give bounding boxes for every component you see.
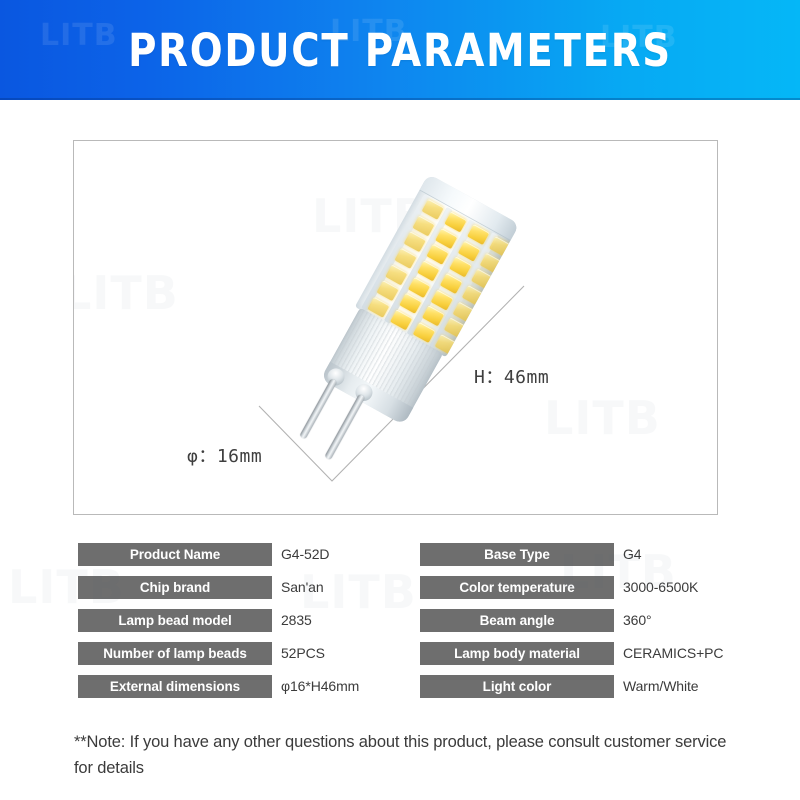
- table-row: External dimensions φ16*H46mm: [78, 675, 418, 708]
- panel-watermark-left: LITB: [73, 266, 179, 320]
- spec-value: Warm/White: [623, 675, 698, 698]
- led-chip: [471, 269, 494, 290]
- table-row: Beam angle 360°: [420, 609, 760, 642]
- header-banner: LITB LITB LITB PRODUCT PARAMETERS: [0, 0, 800, 100]
- led-chip: [431, 289, 454, 310]
- led-chip: [435, 228, 458, 249]
- spec-label: Beam angle: [420, 609, 614, 632]
- spec-value: φ16*H46mm: [281, 675, 359, 698]
- led-chip: [458, 240, 481, 261]
- led-chip: [480, 253, 503, 274]
- led-chip: [376, 280, 399, 301]
- table-row: Lamp bead model 2835: [78, 609, 418, 642]
- g4-led-bulb-photo: [269, 156, 569, 456]
- led-chip: [453, 301, 476, 322]
- spec-value: CERAMICS+PC: [623, 642, 723, 665]
- spec-label: Base Type: [420, 543, 614, 566]
- led-chip: [462, 285, 485, 306]
- spec-value: San'an: [281, 576, 324, 599]
- spec-column-right: Base Type G4 Color temperature 3000-6500…: [420, 543, 760, 708]
- spec-value: G4: [623, 543, 641, 566]
- led-chip: [449, 257, 472, 278]
- spec-label: Light color: [420, 675, 614, 698]
- led-chip: [426, 244, 449, 265]
- note-text: **Note: If you have any other questions …: [74, 729, 734, 781]
- spec-value: 52PCS: [281, 642, 325, 665]
- specifications-table: Product Name G4-52D Chip brand San'an La…: [0, 543, 800, 713]
- page-title: PRODUCT PARAMETERS: [56, 0, 744, 100]
- led-chip: [408, 277, 431, 298]
- spec-label: Lamp body material: [420, 642, 614, 665]
- spec-column-left: Product Name G4-52D Chip brand San'an La…: [78, 543, 418, 708]
- led-chip: [440, 273, 463, 294]
- dimension-label-height: H：46mm: [474, 363, 549, 389]
- bulb-assembly: [297, 168, 532, 450]
- table-row: Product Name G4-52D: [78, 543, 418, 576]
- spec-value: 2835: [281, 609, 312, 632]
- led-chip: [403, 232, 426, 253]
- product-image-panel: LITB LITB LITB: [73, 140, 718, 515]
- led-chip: [444, 318, 467, 339]
- led-chip: [399, 293, 422, 314]
- spec-value: G4-52D: [281, 543, 329, 566]
- table-row: Color temperature 3000-6500K: [420, 576, 760, 609]
- table-row: Chip brand San'an: [78, 576, 418, 609]
- spec-label: Product Name: [78, 543, 272, 566]
- spec-label: External dimensions: [78, 675, 272, 698]
- table-row: Base Type G4: [420, 543, 760, 576]
- spec-value: 3000-6500K: [623, 576, 698, 599]
- led-chip: [385, 264, 408, 285]
- spec-label: Color temperature: [420, 576, 614, 599]
- bulb-pin-left: [299, 378, 337, 439]
- table-row: Lamp body material CERAMICS+PC: [420, 642, 760, 675]
- spec-label: Number of lamp beads: [78, 642, 272, 665]
- led-chip: [417, 260, 440, 281]
- led-chip: [394, 248, 417, 269]
- table-row: Light color Warm/White: [420, 675, 760, 708]
- spec-value: 360°: [623, 609, 652, 632]
- led-chip: [422, 306, 445, 327]
- led-chip: [413, 215, 436, 236]
- dimension-label-diameter: φ：16mm: [187, 442, 262, 468]
- table-row: Number of lamp beads 52PCS: [78, 642, 418, 675]
- spec-label: Chip brand: [78, 576, 272, 599]
- spec-label: Lamp bead model: [78, 609, 272, 632]
- bulb-pin-right: [324, 394, 365, 460]
